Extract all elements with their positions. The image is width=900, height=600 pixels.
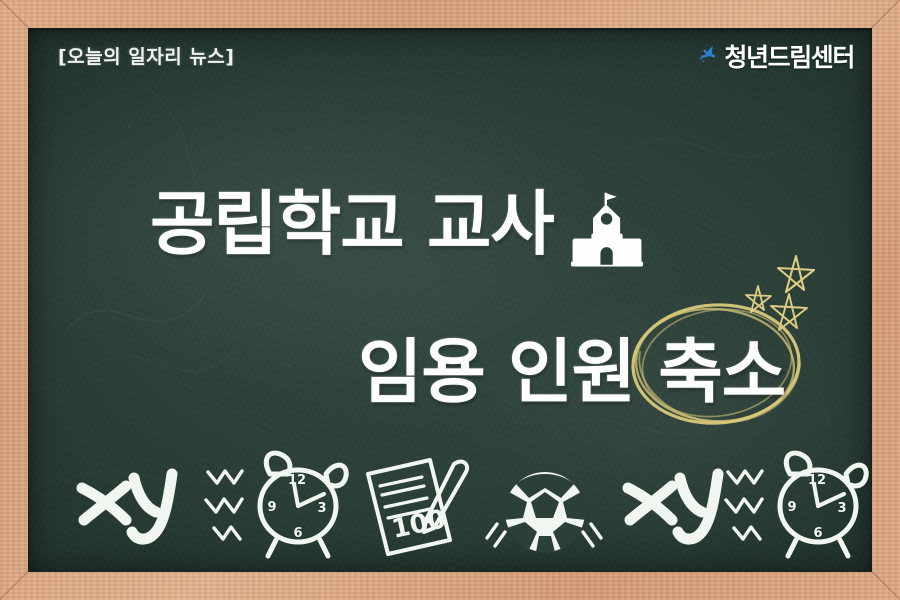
clock-numeral-9: 9 (267, 500, 276, 515)
headline-line-2-prefix: 임용 인원 (358, 331, 658, 413)
clock-numeral-9: 9 (787, 500, 796, 515)
kicker-label: [오늘의 일자리 뉴스] (58, 42, 234, 69)
paper-score-label: 100 (389, 504, 448, 545)
school-building-icon (566, 191, 648, 273)
clock-numeral-12: 12 (808, 473, 826, 488)
clock-numeral-3: 3 (317, 501, 326, 516)
brand-wordmark: 청년드림센터 (724, 38, 854, 74)
clock-numeral-6: 6 (293, 526, 302, 541)
alarm-clock-doodle-right: 12 3 6 9 (726, 444, 872, 562)
clock-numeral-6: 6 (813, 526, 822, 541)
headline-emphasis-word: 축소 (658, 331, 785, 413)
news-card: [오늘의 일자리 뉴스] 청년드림센터 공립학교 교사 (0, 0, 900, 600)
xy-equation-doodle (76, 462, 186, 544)
headline-line-2: 임용 인원 축소 (358, 316, 785, 417)
clock-numeral-12: 12 (288, 473, 306, 488)
bird-mark-icon (696, 43, 722, 69)
brand-logo: 청년드림센터 (696, 38, 854, 74)
soccer-ball-doodle (483, 462, 605, 562)
xy-equation-doodle-2 (622, 462, 732, 544)
clock-numeral-3: 3 (837, 501, 846, 516)
chalkboard: [오늘의 일자리 뉴스] 청년드림센터 공립학교 교사 (28, 28, 872, 572)
board-header: [오늘의 일자리 뉴스] 청년드림센터 (28, 28, 872, 90)
doodle-strip: 12 3 6 9 100 (28, 438, 872, 568)
alarm-clock-doodle-left: 12 3 6 9 (206, 444, 356, 562)
test-paper-doodle: 100 (358, 452, 478, 562)
headline-line-1: 공립학교 교사 (150, 168, 554, 269)
